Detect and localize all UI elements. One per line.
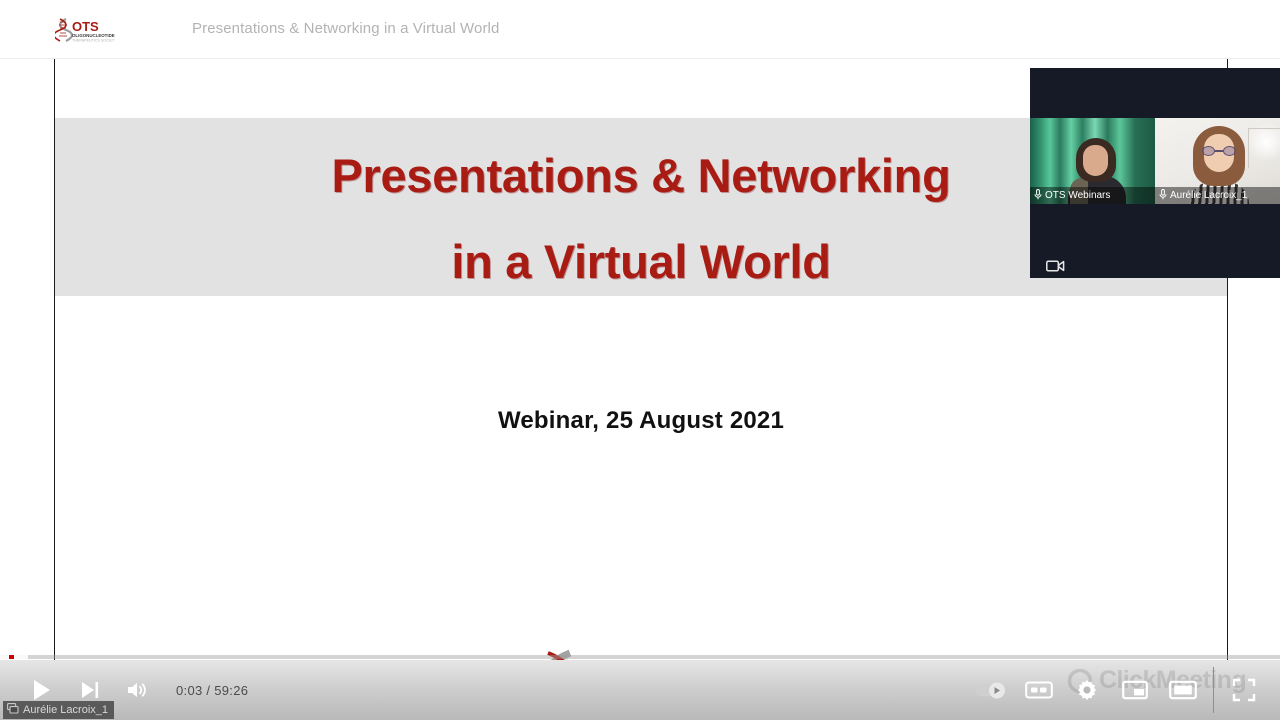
volume-button[interactable] xyxy=(114,666,162,714)
camera-icon[interactable] xyxy=(1046,259,1065,278)
svg-text:OLIGONUCLEOTIDE: OLIGONUCLEOTIDE xyxy=(72,33,115,38)
screen-share-name-tooltip: Aurélie Lacroix_1 xyxy=(3,701,114,719)
theater-mode-button[interactable] xyxy=(1159,666,1207,714)
progress-played xyxy=(9,655,14,659)
time-display: 0:03 / 59:26 xyxy=(176,683,248,698)
video-tile-presenter-1[interactable]: OTS Webinars xyxy=(1030,118,1155,204)
video-player-page: OTS OLIGONUCLEOTIDE THERAPEUTICS SOCIETY… xyxy=(0,0,1280,720)
video-tile-name-row: Aurélie Lacroix_1 xyxy=(1155,187,1280,204)
progress-bar[interactable] xyxy=(0,655,1280,659)
microphone-icon xyxy=(1159,189,1167,203)
slide-date: Webinar, 25 August 2021 xyxy=(55,407,1227,435)
svg-text:THERAPEUTICS SOCIETY: THERAPEUTICS SOCIETY xyxy=(72,39,115,43)
progress-buffer xyxy=(0,655,28,659)
autoplay-toggle[interactable] xyxy=(967,666,1015,714)
ots-logo-icon[interactable]: OTS OLIGONUCLEOTIDE THERAPEUTICS SOCIETY xyxy=(55,15,115,45)
microphone-icon xyxy=(1034,189,1042,203)
player-controls-right xyxy=(967,660,1268,720)
page-title: Presentations & Networking in a Virtual … xyxy=(192,20,499,37)
fullscreen-button[interactable] xyxy=(1220,666,1268,714)
screen-share-name: Aurélie Lacroix_1 xyxy=(23,704,108,716)
svg-text:OTS: OTS xyxy=(72,19,99,34)
screen-share-icon xyxy=(7,703,19,717)
eyeglasses-icon xyxy=(1202,146,1236,156)
controls-divider xyxy=(1213,667,1214,713)
page-header: OTS OLIGONUCLEOTIDE THERAPEUTICS SOCIETY… xyxy=(0,0,1280,59)
video-tile-presenter-2[interactable]: Aurélie Lacroix_1 xyxy=(1155,118,1280,204)
settings-button[interactable] xyxy=(1063,666,1111,714)
miniplayer-button[interactable] xyxy=(1111,666,1159,714)
presenter-video-panel[interactable]: OTS Webinars xyxy=(1030,68,1280,278)
video-tile-name-row: OTS Webinars xyxy=(1030,187,1155,204)
player-control-bar: 0:03 / 59:26 ClickMeeting xyxy=(0,660,1280,720)
video-tile-name: OTS Webinars xyxy=(1045,190,1110,201)
captions-button[interactable] xyxy=(1015,666,1063,714)
slide-title-line1: Presentations & Networking xyxy=(332,149,951,202)
video-tile-name: Aurélie Lacroix_1 xyxy=(1170,190,1247,201)
video-tile-grid: OTS Webinars xyxy=(1030,118,1280,204)
